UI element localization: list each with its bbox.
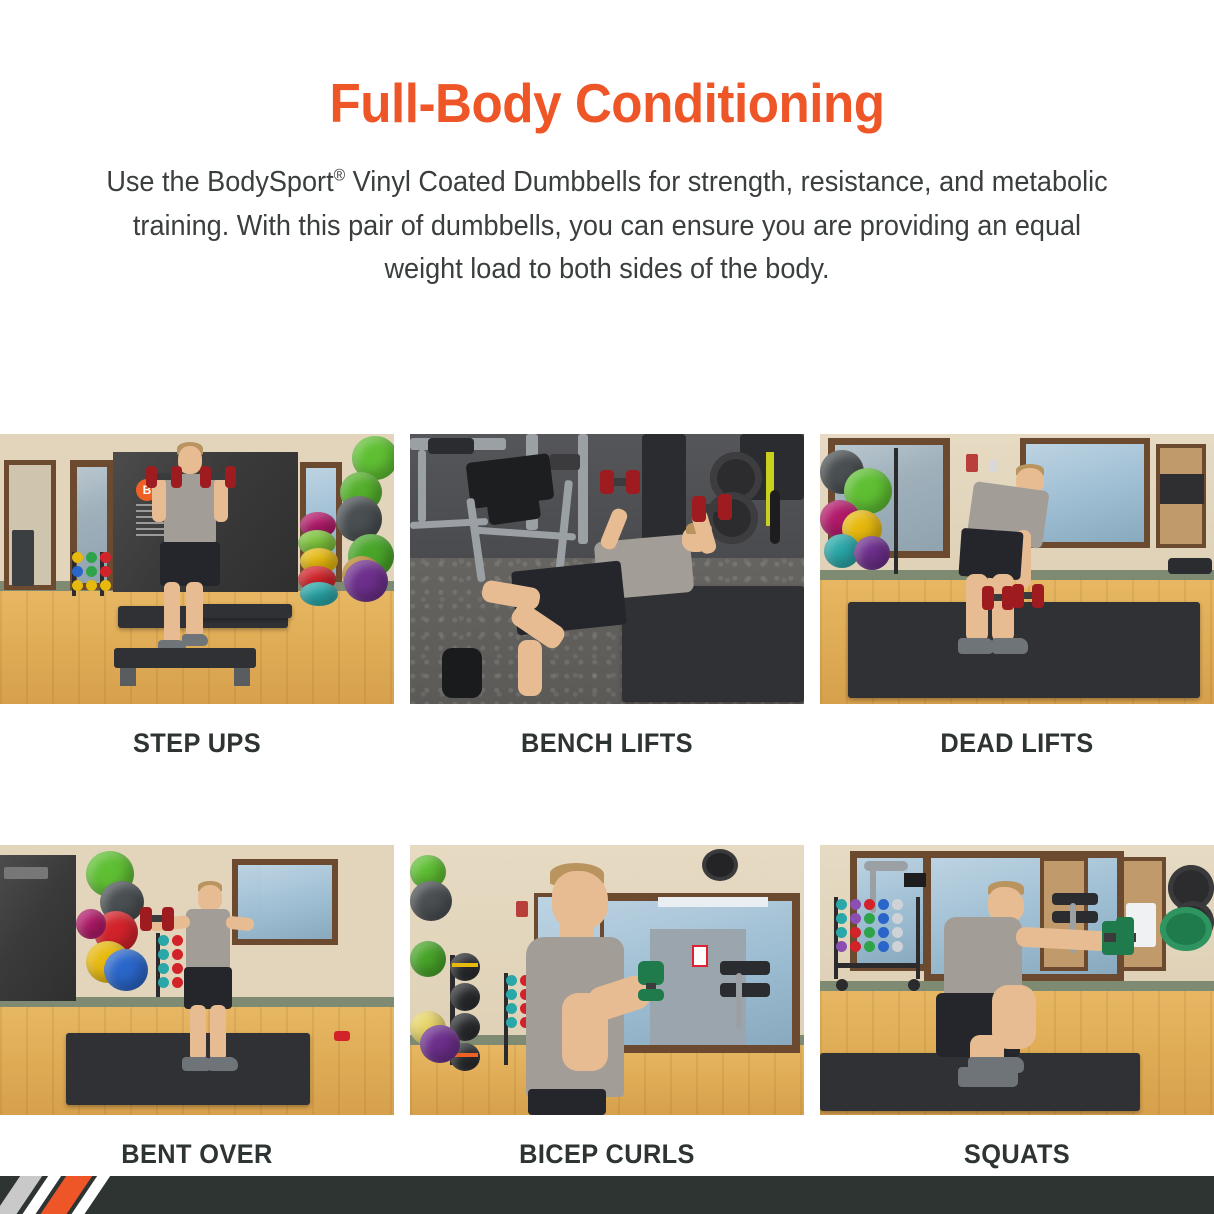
exercise-photo-squats	[820, 845, 1214, 1115]
exercise-caption: BICEP CURLS	[422, 1139, 792, 1170]
description-prefix: Use the BodySport	[106, 166, 333, 198]
exercise-caption: SQUATS	[832, 1139, 1202, 1170]
exercise-caption: DEAD LIFTS	[832, 728, 1202, 759]
exercise-photo-step-ups: B	[0, 434, 394, 704]
exercise-photo-bicep-curls	[410, 845, 804, 1115]
exercise-card-bent-over[interactable]: BENT OVER	[0, 845, 394, 1170]
exercise-photo-bent-over	[0, 845, 394, 1115]
exercise-card-step-ups[interactable]: B	[0, 434, 394, 759]
page-title: Full-Body Conditioning	[42, 76, 1171, 131]
page-description: Use the BodySport® Vinyl Coated Dumbbell…	[102, 161, 1113, 292]
exercise-card-squats[interactable]: SQUATS	[820, 845, 1214, 1170]
exercise-photo-dead-lifts	[820, 434, 1214, 704]
registered-trademark-icon: ®	[334, 166, 346, 185]
promo-page: Full-Body Conditioning Use the BodySport…	[0, 0, 1214, 1214]
exercise-caption: BENT OVER	[12, 1139, 382, 1170]
exercise-card-bench-lifts[interactable]: BENCH LIFTS	[410, 434, 804, 759]
exercise-card-bicep-curls[interactable]: BICEP CURLS	[410, 845, 804, 1170]
footer-bar	[0, 1176, 1214, 1214]
exercise-caption: STEP UPS	[12, 728, 382, 759]
exercise-card-dead-lifts[interactable]: DEAD LIFTS	[820, 434, 1214, 759]
exercise-caption: BENCH LIFTS	[422, 728, 792, 759]
header: Full-Body Conditioning Use the BodySport…	[0, 0, 1214, 292]
exercise-photo-bench-lifts	[410, 434, 804, 704]
exercise-grid: B	[0, 434, 1214, 1170]
